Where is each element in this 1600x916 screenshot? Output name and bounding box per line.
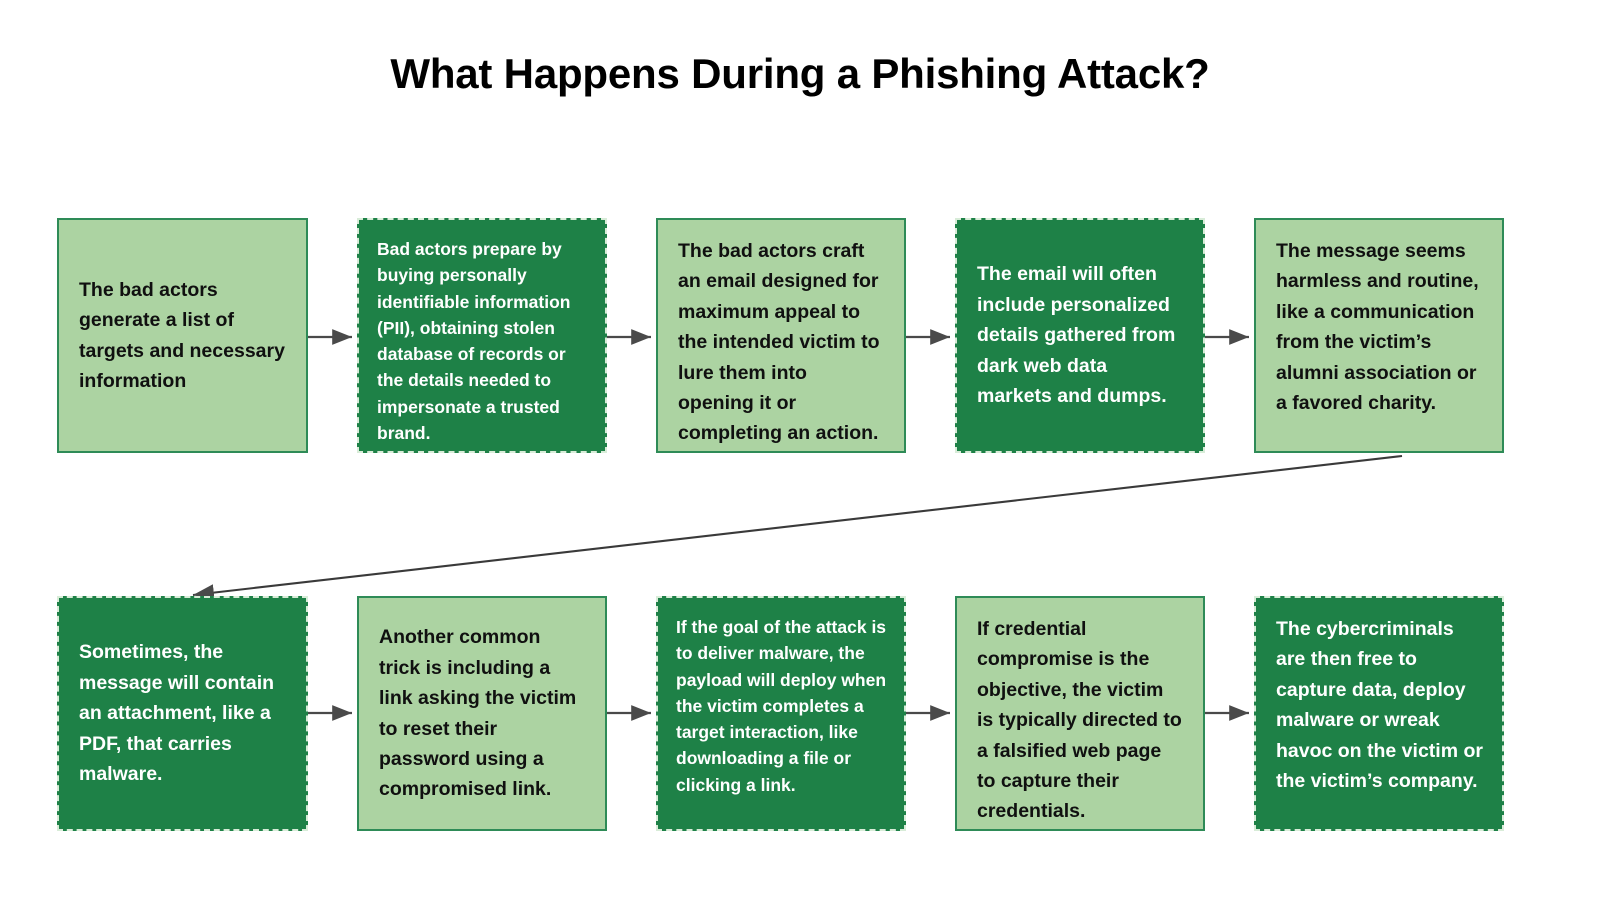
flow-node-step-6[interactable]: Sometimes, the message will contain an a… (57, 596, 308, 831)
page-title: What Happens During a Phishing Attack? (0, 50, 1600, 98)
flow-node-step-10[interactable]: The cybercriminals are then free to capt… (1254, 596, 1504, 831)
flow-node-step-3-label: The bad actors craft an email designed f… (678, 236, 886, 449)
flow-node-step-10-label: The cybercriminals are then free to capt… (1276, 614, 1484, 796)
flow-node-step-5-label: The message seems harmless and routine, … (1276, 236, 1484, 418)
flow-node-step-3[interactable]: The bad actors craft an email designed f… (656, 218, 906, 453)
arrow-step5-step6 (193, 456, 1402, 595)
flow-node-step-2[interactable]: Bad actors prepare by buying personally … (357, 218, 607, 453)
flow-node-step-7-label: Another common trick is including a link… (379, 622, 587, 804)
flow-node-step-9-label: If credential compromise is the objectiv… (977, 614, 1185, 827)
flow-node-step-4[interactable]: The email will often include personalize… (955, 218, 1205, 453)
flow-node-step-8[interactable]: If the goal of the attack is to deliver … (656, 596, 906, 831)
flow-node-step-8-label: If the goal of the attack is to deliver … (676, 614, 890, 798)
flow-node-step-2-label: Bad actors prepare by buying personally … (377, 236, 591, 446)
flow-node-step-9[interactable]: If credential compromise is the objectiv… (955, 596, 1205, 831)
flow-node-step-5[interactable]: The message seems harmless and routine, … (1254, 218, 1504, 453)
flow-node-step-4-label: The email will often include personalize… (977, 259, 1185, 411)
flow-node-step-1[interactable]: The bad actors generate a list of target… (57, 218, 308, 453)
flow-node-step-6-label: Sometimes, the message will contain an a… (79, 637, 288, 789)
flow-node-step-7[interactable]: Another common trick is including a link… (357, 596, 607, 831)
diagram-canvas: What Happens During a Phishing Attack? T… (0, 0, 1600, 916)
flow-node-step-1-label: The bad actors generate a list of target… (79, 275, 288, 397)
